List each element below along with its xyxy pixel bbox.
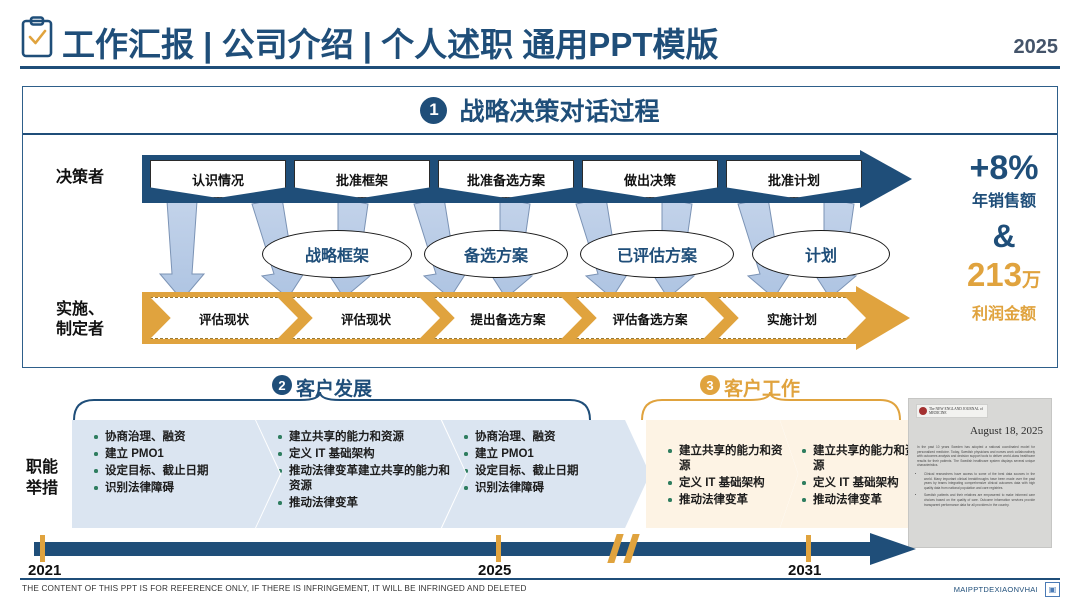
function-row-label: 职能举措 xyxy=(26,457,58,499)
profit-amount-unit: 万 xyxy=(1022,270,1041,291)
page-title: 工作汇报 | 公司介绍 | 个人述职 通用PPT模版 xyxy=(62,18,719,66)
stage-bullet: 建立 PMO1 xyxy=(94,447,270,462)
stage-bullet: 建立 PMO1 xyxy=(464,447,640,462)
section-2-brace xyxy=(72,392,592,422)
clipping-bullets: Clinical researchers have access to some… xyxy=(924,472,1035,507)
sales-growth-value: +8% xyxy=(944,150,1064,186)
timeline-year: 2021 xyxy=(28,562,61,579)
stage-bullet-list: 建立共享的能力和资源 定义 IT 基础架构 推动法律变革建立共享的能力和资源 推… xyxy=(278,430,456,511)
stage-bullet-list: 建立共享的能力和资源 定义 IT 基础架构 推动法律变革 xyxy=(802,444,922,508)
page-header: 工作汇报 | 公司介绍 | 个人述职 通用PPT模版 2025 xyxy=(0,0,1080,78)
clipping-bullet: Clinical researchers have access to some… xyxy=(924,472,1035,490)
results-stats: +8% 年销售额 & 213万 利润金额 xyxy=(944,150,1064,324)
decider-row-label: 决策者 xyxy=(56,168,104,188)
stage-bullet: 识别法律障碍 xyxy=(464,481,640,496)
stage-bullet: 定义 IT 基础架构 xyxy=(278,447,456,462)
timeline-year: 2031 xyxy=(788,562,821,579)
ampersand-separator: & xyxy=(944,215,1064,257)
timeline: 2021 2025 2031 xyxy=(34,538,918,558)
journal-name: The NEW ENGLAND JOURNAL of MEDICINE xyxy=(929,407,987,416)
journal-masthead: The NEW ENGLAND JOURNAL of MEDICINE xyxy=(916,404,988,418)
section-1-badge: 1 xyxy=(420,97,447,124)
implementer-row-label: 实施、制定者 xyxy=(56,300,104,340)
timeline-year: 2025 xyxy=(478,562,511,579)
stage-bullet: 识别法律障碍 xyxy=(94,481,270,496)
timeline-arrow-icon xyxy=(870,533,916,565)
clipping-lead: In the past 10 years Sweden has adopted … xyxy=(917,445,1035,467)
stage-bullet: 定义 IT 基础架构 xyxy=(802,476,922,491)
profit-amount-number: 213 xyxy=(967,256,1022,293)
stage-ellipse[interactable]: 已评估方案 xyxy=(580,230,734,278)
stage-bullet: 推动法律变革 xyxy=(278,496,456,511)
newspaper-clipping: The NEW ENGLAND JOURNAL of MEDICINE Augu… xyxy=(908,398,1052,548)
clipping-date: August 18, 2025 xyxy=(970,425,1043,438)
stage-bullet: 推动法律变革 xyxy=(802,493,922,508)
footer-disclaimer: THE CONTENT OF THIS PPT IS FOR REFERENCE… xyxy=(22,584,527,593)
panel1-header: 1 战略决策对话过程 xyxy=(23,87,1057,135)
stage-bullet: 协商治理、融资 xyxy=(464,430,640,445)
stage-ellipse[interactable]: 计划 xyxy=(752,230,890,278)
stage-ellipse[interactable]: 战略框架 xyxy=(262,230,412,278)
decider-band: 认识情况 批准框架 批准备选方案 做出决策 批准计划 xyxy=(142,155,910,203)
stage-card[interactable]: 建立共享的能力和资源 定义 IT 基础架构 推动法律变革建立共享的能力和资源 推… xyxy=(256,420,466,528)
stage-bullet: 推动法律变革 xyxy=(668,493,788,508)
implementer-step[interactable]: 实施计划 xyxy=(718,297,866,339)
implementer-step[interactable]: 评估现状 xyxy=(150,297,298,339)
implementer-step[interactable]: 提出备选方案 xyxy=(434,297,582,339)
timeline-tick xyxy=(40,535,45,562)
stage-bullet: 建立共享的能力和资源 xyxy=(278,430,456,445)
header-divider xyxy=(20,66,1060,69)
profit-amount-label: 利润金额 xyxy=(944,300,1064,324)
clipping-bullet: Swedish patients and their relatives are… xyxy=(924,493,1035,507)
stage-bullet: 推动法律变革建立共享的能力和资源 xyxy=(278,464,456,494)
stage-bullet: 建立共享的能力和资源 xyxy=(668,444,788,474)
clipping-body: In the past 10 years Sweden has adopted … xyxy=(917,445,1035,510)
stage-bullet-list: 协商治理、融资 建立 PMO1 设定目标、截止日期 识别法律障碍 xyxy=(94,430,270,496)
stage-bullet: 定义 IT 基础架构 xyxy=(668,476,788,491)
sales-growth-label: 年销售额 xyxy=(944,187,1064,211)
decider-band-arrow-icon xyxy=(860,150,912,208)
implementer-band: 评估现状 评估现状 提出备选方案 评估备选方案 实施计划 xyxy=(142,292,910,344)
timeline-tick xyxy=(806,535,811,562)
section-3-brace xyxy=(640,392,902,422)
logo-badge-icon: ▣ xyxy=(1045,582,1060,597)
footer-brand: MAIPPTDEXIAONVHAI xyxy=(954,585,1038,594)
stage-bullet: 设定目标、截止日期 xyxy=(94,464,270,479)
timeline-bar xyxy=(34,542,874,556)
stage-bullet-list: 协商治理、融资 建立 PMO1 设定目标、截止日期 识别法律障碍 xyxy=(464,430,640,496)
stage-ellipse[interactable]: 备选方案 xyxy=(424,230,568,278)
clipboard-check-icon xyxy=(20,16,54,58)
journal-seal-icon xyxy=(919,407,927,415)
stage-card[interactable]: 协商治理、融资 建立 PMO1 设定目标、截止日期 识别法律障碍 xyxy=(72,420,280,528)
implementer-step[interactable]: 评估现状 xyxy=(292,297,440,339)
panel1-title: 战略决策对话过程 xyxy=(459,92,659,128)
stage-bullet: 协商治理、融资 xyxy=(94,430,270,445)
header-year: 2025 xyxy=(1014,36,1059,59)
stage-bullet: 设定目标、截止日期 xyxy=(464,464,640,479)
implementer-step[interactable]: 评估备选方案 xyxy=(576,297,724,339)
stage-bullet-list: 建立共享的能力和资源 定义 IT 基础架构 推动法律变革 xyxy=(668,444,788,508)
timeline-tick xyxy=(496,535,501,562)
footer-divider xyxy=(20,578,1060,580)
stage-card[interactable]: 建立共享的能力和资源 定义 IT 基础架构 推动法律变革 xyxy=(646,420,798,528)
profit-amount-value: 213万 xyxy=(944,257,1064,299)
stage-card[interactable]: 协商治理、融资 建立 PMO1 设定目标、截止日期 识别法律障碍 xyxy=(442,420,650,528)
stage-bullet: 建立共享的能力和资源 xyxy=(802,444,922,474)
